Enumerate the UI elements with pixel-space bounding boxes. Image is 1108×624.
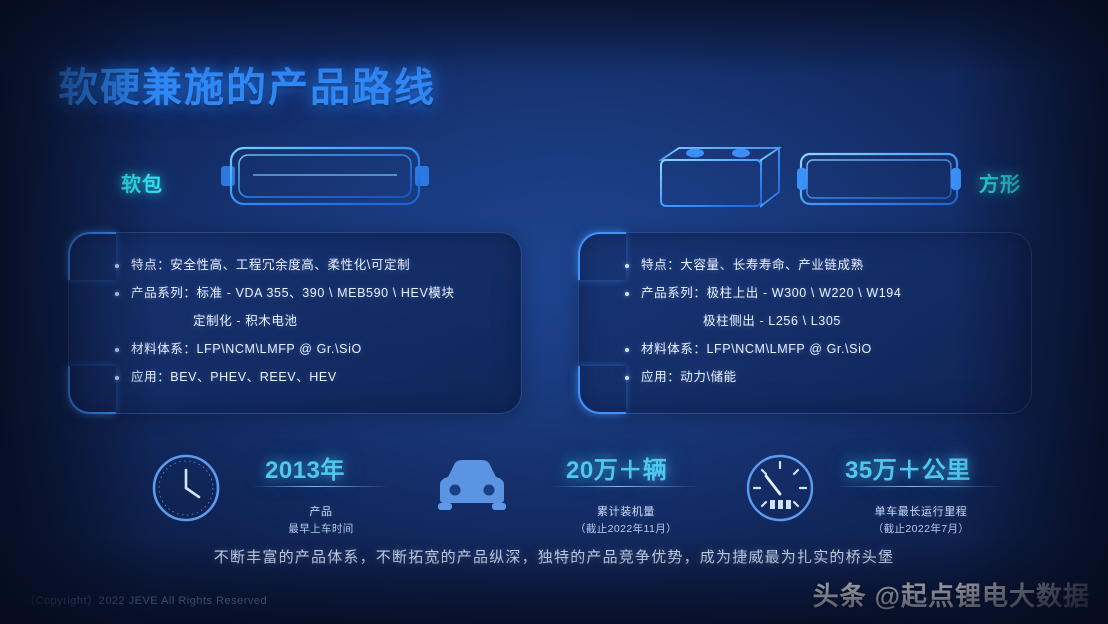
bullet-text: 产品系列：标准 - VDA 355、390 \ MEB590 \ HEV模块 [131, 283, 455, 304]
bullet-text: 产品系列：极柱上出 - W300 \ W220 \ W194 [641, 283, 901, 304]
stat-sublabel-2: （截止2022年7月） [836, 521, 1006, 536]
bullet-text: 材料体系：LFP\NCM\LMFP @ Gr.\SiO [641, 339, 872, 360]
bullet-dot-icon [625, 292, 629, 296]
stat-sublabel-2: 最早上车时间 [252, 521, 390, 536]
bullet-item: 极柱侧出 - L256 \ L305 [625, 311, 1015, 332]
bullet-item: 应用：BEV、PHEV、REEV、HEV [115, 367, 505, 388]
bullet-text: 极柱侧出 - L256 \ L305 [641, 311, 841, 332]
slide-canvas: 软硬兼施的产品路线 软包 方形 [0, 0, 1108, 624]
bullet-text: 定制化 - 积木电池 [131, 311, 298, 332]
bullet-dot-icon [625, 348, 629, 352]
bullet-item: 应用：动力\储能 [625, 367, 1015, 388]
watermark: 头条 @起点锂电大数据 [813, 576, 1090, 613]
watermark-handle: @起点锂电大数据 [875, 576, 1090, 613]
panel-corner-accent-bottom-left [578, 366, 626, 414]
bullet-text: 特点：大容量、长寿寿命、产业链成熟 [641, 255, 864, 276]
tagline: 不断丰富的产品体系，不断拓宽的产品纵深，独特的产品竞争优势，成为捷威最为扎实的桥… [0, 546, 1108, 567]
bullet-item: 定制化 - 积木电池 [115, 311, 505, 332]
category-label-prismatic: 方形 [979, 168, 1021, 197]
stat-value: 2013年 [265, 450, 345, 485]
page-title: 软硬兼施的产品路线 [58, 55, 436, 113]
panel-corner-accent-bottom-left [68, 366, 116, 414]
stat-value: 20万＋辆 [566, 450, 667, 485]
bullet-item: 特点：安全性高、工程冗余度高、柔性化\可定制 [115, 255, 505, 276]
bullet-text: 材料体系：LFP\NCM\LMFP @ Gr.\SiO [131, 339, 362, 360]
panel-corner-accent-top-left [68, 232, 116, 280]
clock-icon [148, 450, 224, 526]
prismatic-cell-icon [655, 140, 965, 212]
bullet-text: 特点：安全性高、工程冗余度高、柔性化\可定制 [131, 255, 410, 276]
bullet-item: 特点：大容量、长寿寿命、产业链成熟 [625, 255, 1015, 276]
stat-sublabel-1: 累计装机量 [552, 503, 700, 519]
panel-corner-accent-top-left [578, 232, 626, 280]
bullet-text: 应用：BEV、PHEV、REEV、HEV [131, 367, 337, 388]
bullet-text: 应用：动力\储能 [641, 367, 737, 388]
speedometer-icon [742, 450, 818, 526]
pouch-cell-icon [205, 142, 445, 212]
bullet-dot-icon [625, 376, 629, 380]
bullet-list-pouch: 特点：安全性高、工程冗余度高、柔性化\可定制产品系列：标准 - VDA 355、… [115, 255, 505, 395]
bullet-dot-icon [115, 264, 119, 268]
stat-divider [552, 486, 700, 487]
bullet-dot-icon [115, 292, 119, 296]
stat-value: 35万＋公里 [845, 450, 971, 485]
category-label-pouch: 软包 [121, 168, 163, 197]
bullet-list-prismatic: 特点：大容量、长寿寿命、产业链成熟产品系列：极柱上出 - W300 \ W220… [625, 255, 1015, 395]
stat-sublabel-2: （截止2022年11月） [552, 521, 700, 536]
bullet-item: 产品系列：标准 - VDA 355、390 \ MEB590 \ HEV模块 [115, 283, 505, 304]
bullet-item: 材料体系：LFP\NCM\LMFP @ Gr.\SiO [625, 339, 1015, 360]
panel-prismatic-specs: 特点：大容量、长寿寿命、产业链成熟产品系列：极柱上出 - W300 \ W220… [578, 232, 1032, 414]
stat-divider [836, 486, 1006, 487]
bullet-item: 产品系列：极柱上出 - W300 \ W220 \ W194 [625, 283, 1015, 304]
car-icon [432, 455, 512, 517]
stat-sublabel-1: 单车最长运行里程 [836, 503, 1006, 519]
bullet-item: 材料体系：LFP\NCM\LMFP @ Gr.\SiO [115, 339, 505, 360]
bullet-dot-icon [115, 348, 119, 352]
panel-pouch-specs: 特点：安全性高、工程冗余度高、柔性化\可定制产品系列：标准 - VDA 355、… [68, 232, 522, 414]
watermark-brand: 头条 [813, 576, 867, 613]
copyright-notice: （Copyright）2022 JEVE All Rights Reserved [24, 592, 267, 608]
stat-divider [252, 486, 390, 487]
bullet-dot-icon [115, 376, 119, 380]
stat-sublabel-1: 产品 [252, 503, 390, 519]
bullet-dot-icon [625, 264, 629, 268]
